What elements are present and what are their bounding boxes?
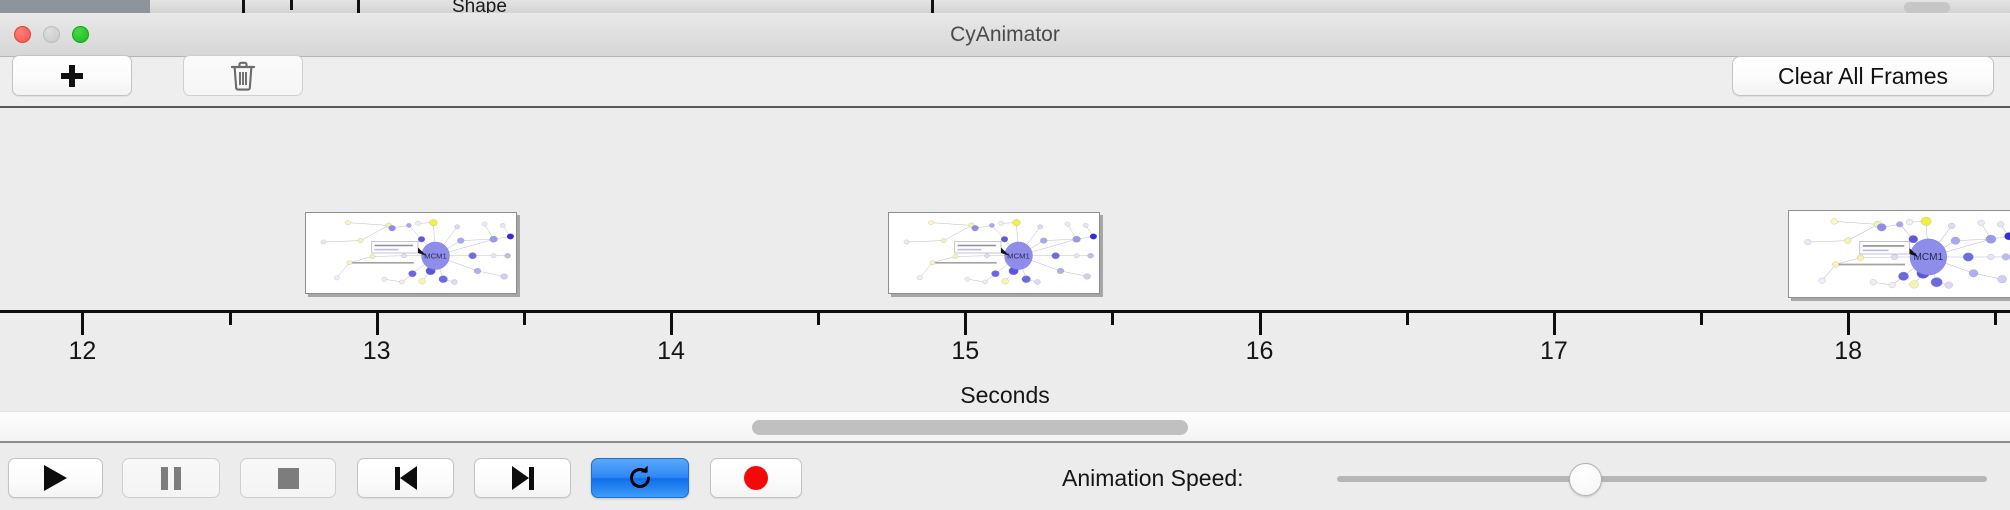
background-window-scroll-nub	[1904, 2, 1950, 13]
animation-speed-thumb[interactable]	[1569, 463, 1602, 496]
record-icon	[744, 466, 768, 490]
animation-speed-track	[1337, 476, 1987, 482]
clear-all-frames-button[interactable]: Clear All Frames	[1732, 56, 1994, 96]
svg-text:MCM1: MCM1	[1007, 252, 1030, 261]
timeline-scrollbar-thumb[interactable]	[752, 420, 1188, 435]
network-graph: MCM1	[889, 213, 1099, 293]
axis-tick-major	[964, 313, 967, 335]
axis-tick-minor	[817, 313, 820, 325]
background-window-titlebar	[0, 0, 150, 13]
cyanimator-window: Shape CyAnimator Clear All Frames MCM1MC…	[0, 0, 2010, 510]
play-button[interactable]	[8, 458, 103, 498]
skip-backward-icon	[395, 466, 417, 490]
axis-tick-minor	[1994, 313, 1997, 325]
axis-tick-minor	[523, 313, 526, 325]
background-window-chunk	[235, 0, 361, 13]
animation-speed-slider[interactable]	[1337, 470, 1987, 488]
timeline-axis-line	[0, 310, 2010, 313]
timeline-scrollbar[interactable]	[0, 411, 2010, 441]
background-window-label: Shape	[452, 0, 507, 13]
loop-icon	[625, 463, 655, 493]
skip-forward-icon	[512, 466, 534, 490]
axis-tick-major	[81, 313, 84, 335]
clear-all-frames-label: Clear All Frames	[1778, 63, 1948, 90]
trash-icon	[230, 61, 256, 91]
axis-tick-minor	[1700, 313, 1703, 325]
skip-to-start-button[interactable]	[357, 458, 454, 498]
loop-button[interactable]	[591, 458, 689, 498]
window-title: CyAnimator	[0, 13, 2010, 57]
timeline-frame-thumbnail[interactable]: MCM1	[888, 212, 1100, 294]
background-window-marker	[357, 0, 360, 13]
plus-icon	[60, 64, 84, 88]
delete-frame-button[interactable]	[183, 55, 303, 96]
timeline-track[interactable]: MCM1MCM1MCM1	[0, 108, 2010, 418]
title-bar: CyAnimator	[0, 13, 2010, 57]
axis-tick-label: 15	[925, 337, 1005, 366]
background-window-strip: Shape	[0, 0, 2010, 13]
axis-tick-major	[670, 313, 673, 335]
axis-tick-label: 18	[1808, 337, 1888, 366]
background-window-chunk	[620, 0, 931, 13]
background-window-chunk	[930, 0, 1351, 13]
axis-tick-label: 17	[1514, 337, 1594, 366]
axis-tick-label: 13	[337, 337, 417, 366]
timeline-frame-thumbnail[interactable]: MCM1	[1788, 210, 2010, 298]
svg-text:MCM1: MCM1	[424, 252, 447, 261]
pause-icon	[161, 467, 181, 490]
axis-tick-label: 14	[631, 337, 711, 366]
axis-tick-minor	[229, 313, 232, 325]
network-graph: MCM1	[1789, 211, 2010, 297]
axis-tick-minor	[1111, 313, 1114, 325]
pause-button[interactable]	[122, 458, 220, 498]
axis-tick-major	[1259, 313, 1262, 335]
svg-text:MCM1: MCM1	[1913, 252, 1943, 263]
axis-tick-major	[1553, 313, 1556, 335]
background-window-marker	[242, 0, 245, 13]
record-button[interactable]	[710, 458, 802, 498]
axis-tick-label: 16	[1220, 337, 1300, 366]
axis-tick-label: 12	[42, 337, 122, 366]
animation-speed-label: Animation Speed:	[1062, 459, 1244, 497]
play-icon	[44, 465, 67, 491]
background-window-marker	[290, 0, 293, 10]
axis-tick-minor	[1406, 313, 1409, 325]
stop-button[interactable]	[240, 458, 336, 498]
axis-tick-major	[1847, 313, 1850, 335]
stop-icon	[278, 468, 299, 489]
background-window-chunk	[150, 0, 236, 13]
timeline-axis-title: Seconds	[0, 382, 2010, 409]
network-graph: MCM1	[306, 213, 516, 293]
skip-to-end-button[interactable]	[474, 458, 571, 498]
background-window-marker	[931, 0, 934, 13]
add-frame-button[interactable]	[12, 55, 132, 96]
axis-tick-major	[376, 313, 379, 335]
timeline-frame-thumbnail[interactable]: MCM1	[305, 212, 517, 294]
